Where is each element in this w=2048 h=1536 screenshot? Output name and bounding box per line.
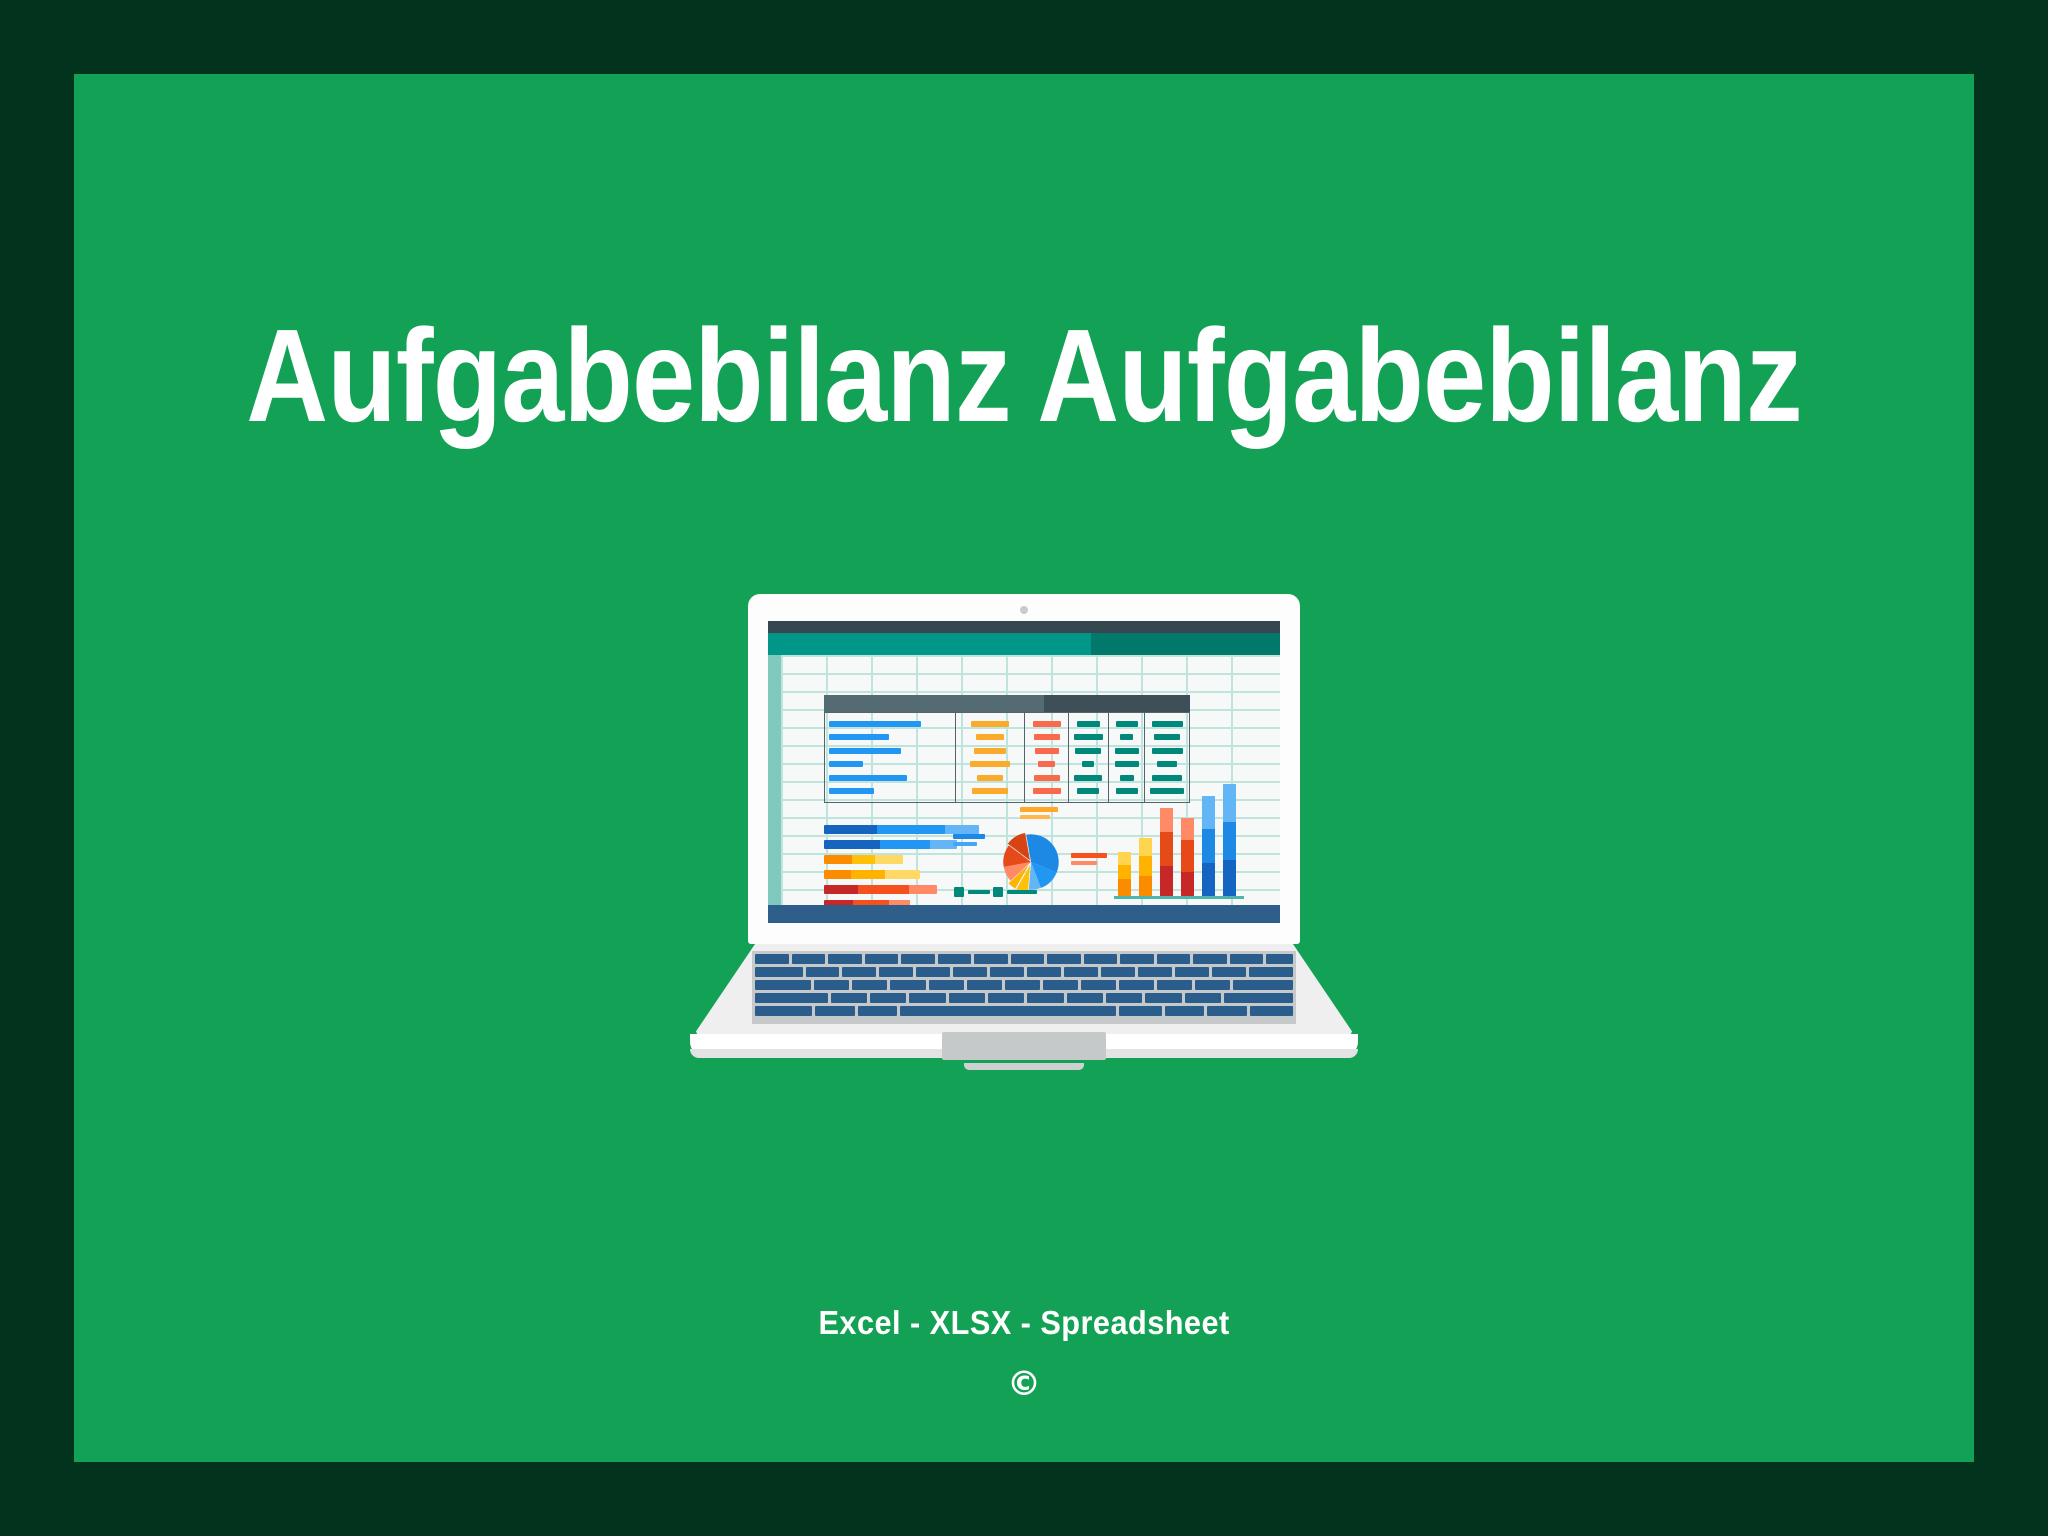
legend-orange-top bbox=[1020, 807, 1058, 822]
keyboard-key[interactable] bbox=[1067, 993, 1103, 1003]
keyboard-key[interactable] bbox=[842, 967, 876, 977]
keyboard-key[interactable] bbox=[1081, 980, 1116, 990]
hbar-blue-2 bbox=[824, 840, 957, 849]
keyboard[interactable] bbox=[752, 951, 1296, 1024]
bar-chart-baseline bbox=[1114, 896, 1244, 899]
keyboard-key[interactable] bbox=[1047, 954, 1081, 964]
webcam-icon bbox=[1020, 606, 1028, 614]
keyboard-key[interactable] bbox=[990, 967, 1024, 977]
table-cell-bar bbox=[829, 775, 907, 781]
keyboard-key[interactable] bbox=[901, 954, 935, 964]
bar-segment bbox=[1223, 860, 1236, 896]
hbar-orange-2 bbox=[824, 870, 920, 879]
table-cell-bar bbox=[1074, 734, 1103, 740]
keyboard-key[interactable] bbox=[1224, 993, 1293, 1003]
table-cell-bar bbox=[974, 748, 1006, 754]
table-cell-bar bbox=[1034, 734, 1060, 740]
table-column-col-coral bbox=[1025, 713, 1069, 802]
keyboard-key[interactable] bbox=[916, 967, 950, 977]
trackpad[interactable] bbox=[942, 1032, 1106, 1060]
table-cell-bar bbox=[976, 734, 1004, 740]
table-cell-bar bbox=[1075, 748, 1101, 754]
keyboard-key[interactable] bbox=[929, 980, 964, 990]
keyboard-key[interactable] bbox=[1175, 967, 1209, 977]
keyboard-key[interactable] bbox=[755, 993, 828, 1003]
bar-segment bbox=[880, 840, 931, 849]
keyboard-key[interactable] bbox=[1084, 954, 1118, 964]
vbar-orange-2 bbox=[1139, 838, 1152, 896]
laptop-lid bbox=[748, 594, 1300, 944]
keyboard-row bbox=[755, 1006, 1293, 1016]
keyboard-key[interactable] bbox=[831, 993, 867, 1003]
keyboard-key[interactable] bbox=[1212, 967, 1246, 977]
keyboard-key[interactable] bbox=[1119, 1006, 1162, 1016]
keyboard-row bbox=[755, 954, 1293, 964]
keyboard-key[interactable] bbox=[967, 980, 1002, 990]
page-title: Aufgabebilanz Aufgabebilanz bbox=[207, 310, 1841, 442]
keyboard-key[interactable] bbox=[1145, 993, 1181, 1003]
keyboard-key[interactable] bbox=[1119, 980, 1154, 990]
table-cell-bar bbox=[829, 761, 863, 767]
bar-segment bbox=[885, 870, 920, 879]
bar-segment bbox=[1202, 829, 1215, 863]
table-cell-bar bbox=[1120, 734, 1133, 740]
keyboard-key[interactable] bbox=[852, 980, 887, 990]
table-header-right bbox=[1044, 695, 1190, 712]
table-cell-bar bbox=[1034, 775, 1060, 781]
table-header-left bbox=[824, 695, 1044, 712]
keyboard-key[interactable] bbox=[755, 1006, 812, 1016]
bar-segment bbox=[1181, 818, 1194, 840]
laptop-spreadsheet-illustration bbox=[670, 594, 1378, 1079]
table-cell-bar bbox=[1033, 721, 1061, 727]
green-panel: Aufgabebilanz Aufgabebilanz bbox=[74, 74, 1974, 1462]
table-column-col-teal-1 bbox=[1069, 713, 1109, 802]
bar-segment bbox=[824, 825, 877, 834]
vbar-red-1 bbox=[1160, 808, 1173, 896]
bar-segment bbox=[1223, 822, 1236, 860]
keyboard-key[interactable] bbox=[890, 980, 925, 990]
bar-segment bbox=[1181, 872, 1194, 896]
table-cell-bar bbox=[1152, 721, 1183, 727]
keyboard-key[interactable] bbox=[1011, 954, 1045, 964]
keyboard-row bbox=[755, 967, 1293, 977]
vbar-orange-1 bbox=[1118, 852, 1131, 896]
bar-segment bbox=[909, 885, 937, 894]
screen-toolbar-left bbox=[768, 633, 1091, 655]
table-cell-bar bbox=[829, 788, 874, 794]
bar-segment bbox=[1139, 876, 1152, 896]
keyboard-key[interactable] bbox=[1157, 954, 1191, 964]
bar-segment bbox=[824, 855, 852, 864]
table-cell-bar bbox=[1077, 721, 1100, 727]
keyboard-key[interactable] bbox=[1233, 980, 1293, 990]
table-column-col-orange bbox=[956, 713, 1025, 802]
bar-segment bbox=[1202, 796, 1215, 829]
keyboard-key[interactable] bbox=[1043, 980, 1078, 990]
keyboard-key[interactable] bbox=[1195, 980, 1230, 990]
spreadsheet-data-table bbox=[824, 695, 1190, 803]
legend-blue-left bbox=[953, 834, 985, 849]
bar-segment bbox=[824, 885, 858, 894]
table-column-col-blue bbox=[825, 713, 956, 802]
table-cell-bar bbox=[1152, 748, 1183, 754]
table-cell-bar bbox=[1115, 748, 1139, 754]
screen-statusbar bbox=[768, 905, 1280, 923]
table-cell-bar bbox=[829, 721, 921, 727]
keyboard-key[interactable] bbox=[1249, 967, 1293, 977]
hbar-orange-1 bbox=[824, 855, 903, 864]
keyboard-key[interactable] bbox=[755, 954, 789, 964]
table-cell-bar bbox=[1035, 748, 1059, 754]
keyboard-key[interactable] bbox=[1207, 1006, 1247, 1016]
keyboard-key[interactable] bbox=[814, 980, 849, 990]
keyboard-row bbox=[755, 980, 1293, 990]
bar-segment bbox=[1118, 879, 1131, 896]
table-cell-bar bbox=[1116, 721, 1138, 727]
keyboard-key[interactable] bbox=[1005, 980, 1040, 990]
poster-canvas: Aufgabebilanz Aufgabebilanz bbox=[0, 0, 2048, 1536]
keyboard-key[interactable] bbox=[1266, 954, 1293, 964]
keyboard-key[interactable] bbox=[1250, 1006, 1293, 1016]
vbar-red-2 bbox=[1181, 818, 1194, 896]
bar-segment bbox=[851, 870, 886, 879]
bar-segment bbox=[1118, 865, 1131, 879]
vertical-bar-chart bbox=[1114, 789, 1244, 899]
hbar-red-1 bbox=[824, 885, 937, 894]
table-cell-bar bbox=[1077, 788, 1099, 794]
table-cell-bar bbox=[1157, 761, 1177, 767]
legend-teal-a bbox=[954, 887, 990, 897]
keyboard-key[interactable] bbox=[1185, 993, 1221, 1003]
keyboard-key[interactable] bbox=[1230, 954, 1264, 964]
keyboard-key[interactable] bbox=[792, 954, 826, 964]
keyboard-key[interactable] bbox=[879, 967, 913, 977]
keyboard-key[interactable] bbox=[815, 1006, 855, 1016]
keyboard-key[interactable] bbox=[1165, 1006, 1205, 1016]
bar-segment bbox=[945, 825, 979, 834]
keyboard-key[interactable] bbox=[988, 993, 1024, 1003]
footer: Excel - XLSX - Spreadsheet © bbox=[74, 1304, 1974, 1404]
bar-segment bbox=[858, 885, 909, 894]
table-cell-bar bbox=[1120, 775, 1134, 781]
keyboard-key[interactable] bbox=[900, 1006, 1115, 1016]
vbar-blue-2 bbox=[1223, 784, 1236, 896]
table-cell-bar bbox=[1033, 788, 1061, 794]
bar-segment bbox=[1139, 838, 1152, 856]
keyboard-key[interactable] bbox=[1138, 967, 1172, 977]
copyright-icon: © bbox=[74, 1364, 1974, 1404]
table-cell-bar bbox=[971, 721, 1009, 727]
bar-segment bbox=[852, 855, 876, 864]
pie-chart bbox=[998, 829, 1064, 895]
keyboard-key[interactable] bbox=[1101, 967, 1135, 977]
keyboard-key[interactable] bbox=[974, 954, 1008, 964]
table-cell-bar bbox=[1082, 761, 1094, 767]
bar-segment bbox=[1223, 784, 1236, 822]
table-cell-bar bbox=[1154, 734, 1180, 740]
keyboard-key[interactable] bbox=[1193, 954, 1227, 964]
footer-subtitle: Excel - XLSX - Spreadsheet bbox=[818, 1304, 1229, 1342]
row-header-rail bbox=[768, 655, 781, 905]
bar-segment bbox=[1118, 852, 1131, 865]
vbar-blue-1 bbox=[1202, 796, 1215, 896]
bar-segment bbox=[1202, 863, 1215, 896]
legend-red-right bbox=[1071, 853, 1107, 868]
keyboard-key[interactable] bbox=[909, 993, 945, 1003]
keyboard-key[interactable] bbox=[858, 1006, 898, 1016]
bar-segment bbox=[1139, 856, 1152, 876]
keyboard-key[interactable] bbox=[755, 967, 803, 977]
table-cell-bar bbox=[972, 788, 1008, 794]
bar-segment bbox=[877, 825, 945, 834]
table-cell-bar bbox=[1074, 775, 1102, 781]
legend-teal-b bbox=[993, 887, 1037, 897]
keyboard-key[interactable] bbox=[949, 993, 985, 1003]
table-cell-bar bbox=[829, 748, 901, 754]
keyboard-key[interactable] bbox=[828, 954, 862, 964]
keyboard-key[interactable] bbox=[755, 980, 811, 990]
bar-segment bbox=[1160, 832, 1173, 866]
keyboard-key[interactable] bbox=[1157, 980, 1192, 990]
table-cell-bar bbox=[977, 775, 1003, 781]
table-cell-bar bbox=[1038, 761, 1055, 767]
keyboard-key[interactable] bbox=[806, 967, 840, 977]
keyboard-key[interactable] bbox=[938, 954, 972, 964]
keyboard-key[interactable] bbox=[1120, 954, 1154, 964]
bar-segment bbox=[1181, 840, 1194, 872]
hbar-blue-1 bbox=[824, 825, 979, 834]
laptop-screen bbox=[768, 621, 1280, 923]
keyboard-key[interactable] bbox=[1106, 993, 1142, 1003]
table-cell-bar bbox=[829, 734, 889, 740]
table-cell-bar bbox=[1115, 761, 1139, 767]
bar-segment bbox=[875, 855, 903, 864]
screen-titlebar bbox=[768, 621, 1280, 633]
bar-segment bbox=[824, 840, 880, 849]
bar-segment bbox=[1160, 866, 1173, 896]
bar-segment bbox=[824, 870, 851, 879]
screen-toolbar-right bbox=[1091, 633, 1280, 655]
table-cell-bar bbox=[1152, 775, 1182, 781]
keyboard-row bbox=[755, 993, 1293, 1003]
keyboard-key[interactable] bbox=[1064, 967, 1098, 977]
bar-segment bbox=[1160, 808, 1173, 832]
table-cell-bar bbox=[970, 761, 1010, 767]
keyboard-key[interactable] bbox=[953, 967, 987, 977]
keyboard-key[interactable] bbox=[1027, 967, 1061, 977]
keyboard-key[interactable] bbox=[1027, 993, 1063, 1003]
keyboard-key[interactable] bbox=[865, 954, 899, 964]
keyboard-key[interactable] bbox=[870, 993, 906, 1003]
laptop-front-notch bbox=[964, 1063, 1084, 1070]
